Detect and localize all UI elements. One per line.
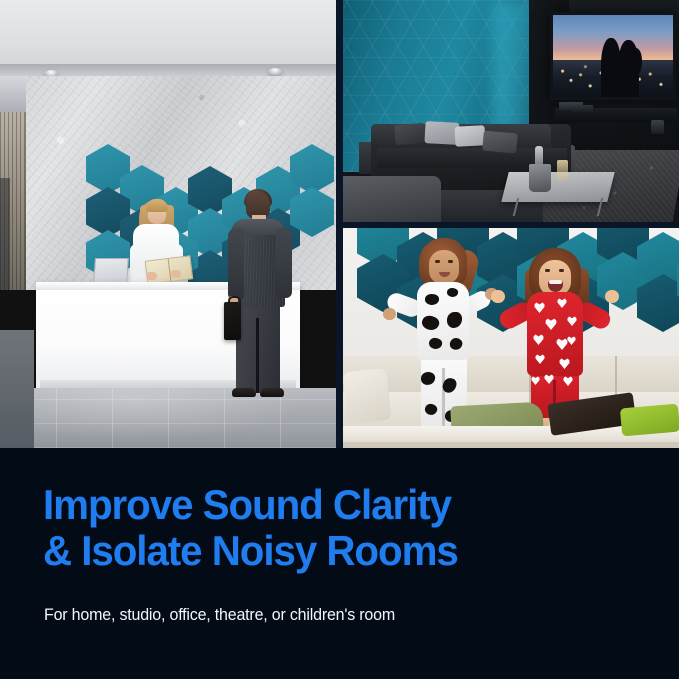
photo-office-reception xyxy=(0,0,336,448)
child-cow-leg-split xyxy=(442,368,445,430)
businessman-arm-left xyxy=(228,228,244,300)
child-heart-eye-left xyxy=(545,269,550,272)
photo-children-room xyxy=(343,228,679,448)
floor-left-shadow xyxy=(0,330,34,448)
businessman-leg-split xyxy=(256,318,259,393)
cow-print-spot-1 xyxy=(424,293,440,306)
floor-speaker xyxy=(651,120,664,134)
sofa-pillow-left xyxy=(343,368,392,424)
cow-print-spot-5 xyxy=(428,336,444,350)
coffee-table-legs xyxy=(513,198,603,216)
tile-floor xyxy=(0,388,336,448)
receptionist-hair-top xyxy=(146,199,168,212)
heart-print-2 xyxy=(557,298,567,308)
businessman-arm-right xyxy=(276,228,292,298)
sofa-cushion-1 xyxy=(394,123,425,145)
child-heart-hand-right xyxy=(605,290,619,303)
heart-print-5 xyxy=(533,334,544,345)
child-heart-face xyxy=(539,260,571,296)
text-banner: Improve Sound Clarity & Isolate Noisy Ro… xyxy=(0,448,679,679)
foreground-armchair xyxy=(343,176,441,222)
child-cow-mouth xyxy=(439,272,450,277)
banner-content: Improve Sound Clarity & Isolate Noisy Ro… xyxy=(0,448,679,679)
child-cow-eye-right xyxy=(448,260,453,263)
child-cow-face xyxy=(429,250,459,284)
briefcase xyxy=(224,302,241,340)
product-banner-image: Improve Sound Clarity & Isolate Noisy Ro… xyxy=(0,0,679,679)
cow-print-spot-2 xyxy=(446,287,459,298)
heart-print-3 xyxy=(545,318,557,330)
headline-line-2: & Isolate Noisy Rooms xyxy=(43,528,619,574)
receptionist-hand-right xyxy=(170,270,181,278)
ceiling-spotlight-2 xyxy=(268,68,282,75)
headline-line-1: Improve Sound Clarity xyxy=(43,482,619,528)
projector-screen xyxy=(550,12,676,100)
businessman-shoe-right xyxy=(260,388,284,397)
child-cow-eye-left xyxy=(435,260,440,263)
ice-bucket xyxy=(529,164,551,192)
child-cow-onesie xyxy=(417,282,469,360)
left-wall-upper xyxy=(0,76,26,114)
child-heart-hand-left xyxy=(491,290,505,303)
screen-silhouette-hair xyxy=(629,48,642,76)
receptionist-hand-left xyxy=(146,272,157,280)
sofa-cushion-4 xyxy=(482,131,518,154)
media-device-2 xyxy=(571,105,593,112)
subtitle: For home, studio, office, theatre, or ch… xyxy=(44,606,395,625)
cow-print-spot-6 xyxy=(448,336,464,352)
wine-glass xyxy=(557,160,568,182)
child-heart-teeth xyxy=(549,280,562,284)
photo-grid xyxy=(0,0,679,450)
heart-print-10 xyxy=(567,336,576,345)
left-dark-edge xyxy=(0,178,10,290)
laptop-screen xyxy=(93,258,129,284)
cow-print-spot-4 xyxy=(447,312,463,329)
headline: Improve Sound Clarity & Isolate Noisy Ro… xyxy=(43,482,619,574)
child-heart-eye-right xyxy=(559,269,564,272)
heart-print-6 xyxy=(556,338,568,350)
heart-print-4 xyxy=(567,316,577,326)
photo-home-theater xyxy=(343,0,679,222)
lime-green-cushion xyxy=(620,404,679,437)
businessman-shoe-left xyxy=(232,388,256,397)
child-cow-hand-left xyxy=(383,308,396,320)
child-heart-onesie xyxy=(527,292,583,376)
sofa-cushion-3 xyxy=(454,125,485,147)
heart-print-1 xyxy=(534,302,545,313)
kids-sofa-backrest xyxy=(343,356,679,394)
heart-print-8 xyxy=(559,358,570,369)
heart-print-7 xyxy=(535,354,545,364)
cow-print-spot-3 xyxy=(420,313,441,332)
